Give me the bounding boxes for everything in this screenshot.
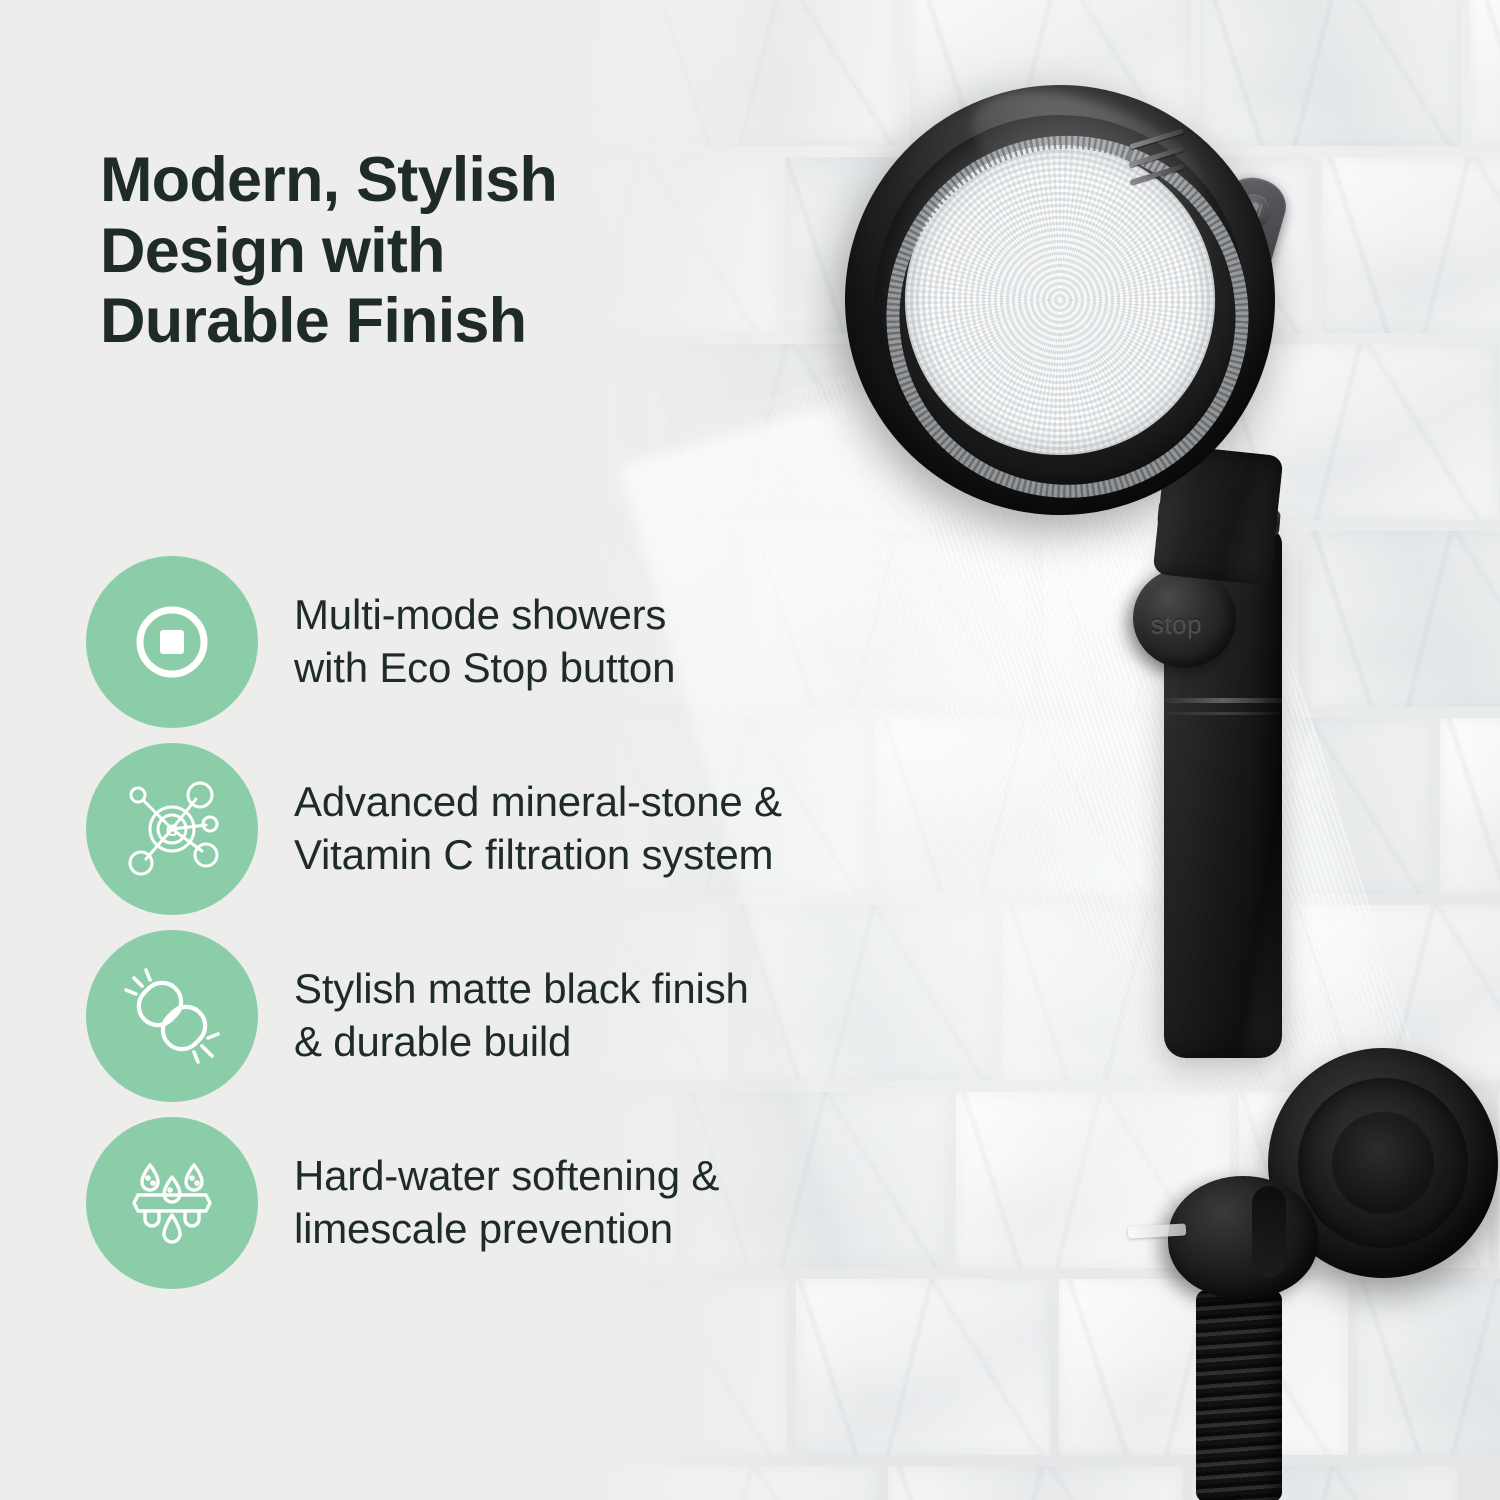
- svg-text:C: C: [166, 821, 178, 840]
- infographic-canvas: stop Modern, Stylish Design with Durable…: [0, 0, 1500, 1500]
- feature-label: Hard-water softening & limescale prevent…: [294, 1150, 719, 1256]
- feature-item: Stylish matte black finish & durable bui…: [86, 922, 1046, 1109]
- eco-stop-button-icon: [86, 556, 258, 728]
- feature-label: Advanced mineral-stone & Vitamin C filtr…: [294, 776, 782, 882]
- vitamin-c-molecule-icon: C: [86, 743, 258, 915]
- water-droplet-filter-icon: [86, 1117, 258, 1289]
- feature-item: C Advanced mineral-stone & Vitamin C fil…: [86, 735, 1046, 922]
- feature-item: Hard-water softening & limescale prevent…: [86, 1109, 1046, 1296]
- feature-list: Multi-mode showers with Eco Stop button: [86, 548, 1046, 1296]
- page-title: Modern, Stylish Design with Durable Fini…: [100, 145, 740, 357]
- feature-item: Multi-mode showers with Eco Stop button: [86, 548, 1046, 735]
- feature-label: Stylish matte black finish & durable bui…: [294, 963, 749, 1069]
- feature-label: Multi-mode showers with Eco Stop button: [294, 589, 675, 695]
- chain-link-durability-icon: [86, 930, 258, 1102]
